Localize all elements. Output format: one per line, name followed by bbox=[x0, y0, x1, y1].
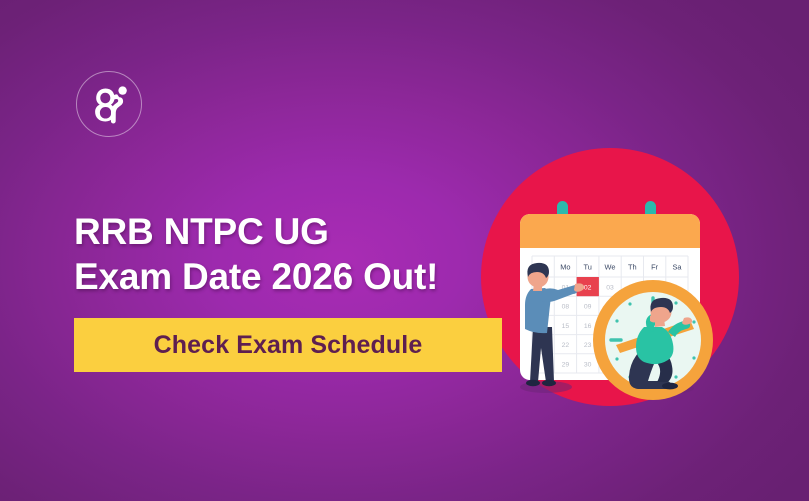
weekday-mo: Mo bbox=[560, 263, 570, 272]
date-cell: 22 bbox=[562, 342, 570, 349]
date-cell: 23 bbox=[584, 342, 592, 349]
butterfly-icon bbox=[89, 83, 131, 127]
date-cell: 16 bbox=[584, 323, 592, 330]
date-cell: 30 bbox=[584, 361, 592, 368]
headline-line-2: Exam Date 2026 Out! bbox=[74, 254, 524, 299]
date-cell: 08 bbox=[562, 304, 570, 311]
butterfly-logo[interactable] bbox=[76, 71, 142, 137]
headline-line-1: RRB NTPC UG bbox=[74, 211, 329, 252]
weekday-sa: Sa bbox=[672, 263, 682, 272]
date-cell: 02 bbox=[584, 285, 592, 292]
date-cell: 09 bbox=[584, 304, 592, 311]
weekday-we: We bbox=[605, 263, 616, 272]
cta-label: Check Exam Schedule bbox=[154, 331, 423, 360]
date-cell: 03 bbox=[606, 285, 614, 292]
date-cell: 15 bbox=[562, 323, 570, 330]
page-title: RRB NTPC UG Exam Date 2026 Out! bbox=[74, 209, 524, 299]
calendar-header bbox=[520, 214, 700, 248]
weekday-th: Th bbox=[628, 263, 637, 272]
check-exam-schedule-button[interactable]: Check Exam Schedule bbox=[74, 318, 502, 372]
weekday-tu: Tu bbox=[584, 263, 592, 272]
date-cell: 29 bbox=[562, 361, 570, 368]
weekday-fr: Fr bbox=[651, 263, 659, 272]
promo-banner: Su Mo Tu We Th Fr Sa 01 02 03 08 09 10 1… bbox=[0, 0, 809, 501]
